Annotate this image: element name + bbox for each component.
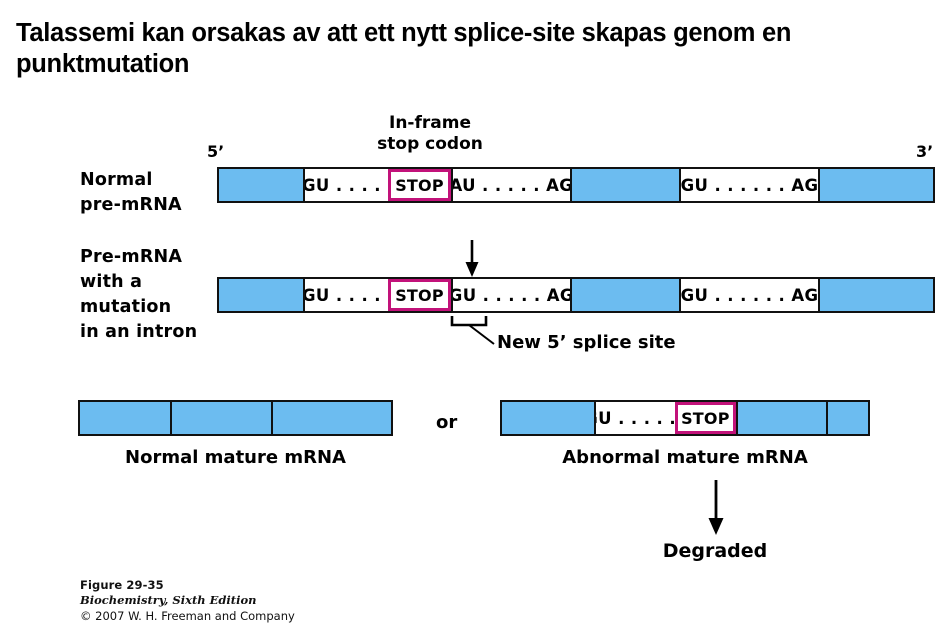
normal-pre-mrna-segment-7-exon	[818, 169, 933, 201]
mutant-pre-mrna-segment-6-intron: GU . . . . . . AG	[679, 279, 818, 311]
abnormal-mature-mrna-segment-3-stop: STOP	[675, 402, 736, 434]
mutant-pre-mrna-segment-3-stop: STOP	[388, 279, 451, 311]
degraded-label: Degraded	[620, 540, 810, 562]
normal-pre-mrna-segment-4-text: AU . . . . . AG	[451, 176, 570, 195]
normal-mature-mrna-segment-1-exon	[80, 402, 170, 434]
normal-pre-mrna-segment-1-exon	[219, 169, 303, 201]
mutant-pre-mrna-segment-4-text: GU . . . . . AG	[451, 286, 570, 305]
mutant-pre-mrna-bar: GU . . . . .STOPGU . . . . . AGGU . . . …	[217, 277, 935, 313]
in-frame-stop-codon-line2: stop codon	[330, 134, 530, 155]
abnormal-mature-mrna-segment-4-exon	[736, 402, 826, 434]
page-title: Talassemi kan orsakas av att ett nytt sp…	[16, 18, 916, 80]
or-label: or	[436, 412, 457, 433]
mutant-pre-mrna-label-line4: in an intron	[80, 320, 230, 345]
abnormal-mature-mrna-segment-2-text: GU . . . . . .	[594, 409, 678, 428]
normal-pre-mrna-label-line2: pre-mRNA	[80, 193, 210, 218]
normal-pre-mrna-bar: GU . . . . .STOPAU . . . . . AGGU . . . …	[217, 167, 935, 203]
in-frame-stop-codon-caption: In-frame stop codon	[330, 113, 530, 155]
mutant-pre-mrna-label-line3: mutation	[80, 295, 230, 320]
three-prime-label: 3’	[916, 142, 933, 161]
mutant-pre-mrna-segment-3-text: STOP	[395, 286, 444, 305]
mutant-pre-mrna-segment-2-intron: GU . . . . .	[303, 279, 391, 311]
abnormal-mature-mrna-caption: Abnormal mature mRNA	[500, 447, 870, 468]
normal-mature-mrna-segment-3-exon	[271, 402, 391, 434]
normal-pre-mrna-segment-4-intron: AU . . . . . AG	[451, 169, 570, 201]
mutant-pre-mrna-label-line2: with a	[80, 270, 230, 295]
mutant-pre-mrna-label: Pre-mRNA with a mutation in an intron	[80, 245, 230, 345]
mutant-pre-mrna-segment-7-exon	[818, 279, 933, 311]
abnormal-mature-mrna-segment-5-exon	[826, 402, 868, 434]
five-prime-label: 5’	[207, 142, 224, 161]
degradation-arrow	[709, 480, 724, 535]
in-frame-stop-codon-line1: In-frame	[330, 113, 530, 134]
normal-pre-mrna-segment-2-intron: GU . . . . .	[303, 169, 391, 201]
mutant-pre-mrna-segment-5-exon	[570, 279, 679, 311]
normal-mature-mrna-segment-2-exon	[170, 402, 271, 434]
normal-pre-mrna-segment-6-text: GU . . . . . . AG	[681, 176, 818, 195]
mutant-pre-mrna-segment-6-text: GU . . . . . . AG	[681, 286, 818, 305]
normal-pre-mrna-segment-6-intron: GU . . . . . . AG	[679, 169, 818, 201]
mutant-pre-mrna-label-line1: Pre-mRNA	[80, 245, 230, 270]
mutant-pre-mrna-segment-2-text: GU . . . . .	[303, 286, 391, 305]
figure-copyright: © 2007 W. H. Freeman and Company	[80, 609, 295, 623]
abnormal-mature-mrna-segment-1-exon	[502, 402, 594, 434]
new-splice-site-label: New 5’ splice site	[497, 332, 676, 353]
normal-pre-mrna-label-line1: Normal	[80, 168, 210, 193]
normal-mature-mrna-caption: Normal mature mRNA	[78, 447, 393, 468]
normal-pre-mrna-segment-2-text: GU . . . . .	[303, 176, 391, 195]
normal-pre-mrna-segment-3-text: STOP	[395, 176, 444, 195]
abnormal-mature-mrna-segment-3-text: STOP	[681, 409, 730, 428]
figure-source: Biochemistry, Sixth Edition	[80, 593, 295, 607]
mutation-arrow	[466, 240, 479, 277]
abnormal-mature-mrna-bar: GU . . . . . .STOP	[500, 400, 870, 436]
normal-pre-mrna-segment-3-stop: STOP	[388, 169, 451, 201]
mutant-pre-mrna-segment-1-exon	[219, 279, 303, 311]
figure-credit: Figure 29-35 Biochemistry, Sixth Edition…	[80, 578, 295, 623]
mutant-pre-mrna-segment-4-intron: GU . . . . . AG	[451, 279, 570, 311]
abnormal-mature-mrna-segment-2-intron: GU . . . . . .	[594, 402, 678, 434]
figure-number: Figure 29-35	[80, 578, 295, 592]
normal-pre-mrna-label: Normal pre-mRNA	[80, 168, 210, 218]
normal-pre-mrna-segment-5-exon	[570, 169, 679, 201]
normal-mature-mrna-bar	[78, 400, 393, 436]
new-splice-site-bracket	[452, 316, 494, 344]
